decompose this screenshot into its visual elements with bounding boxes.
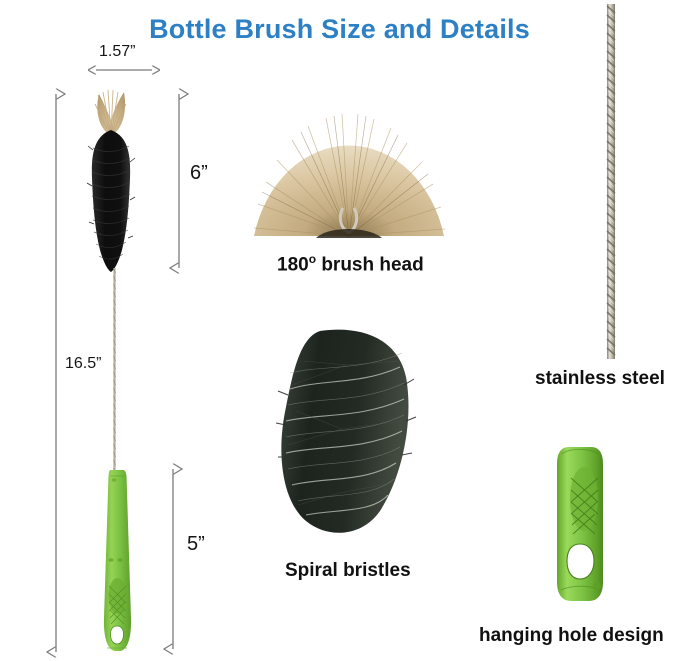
hanging-hole-caption: hanging hole design [479,625,664,647]
wire-shaft-illustration [112,268,117,475]
brush-head-illustration [86,88,136,273]
dimension-arrow-width [92,60,156,80]
brush-head-caption-prefix: 180 [277,254,309,275]
dimension-label-total-length: 16.5” [65,355,101,373]
stainless-steel-photo [603,4,619,359]
brush-head-photo [246,88,452,243]
dimension-label-width: 1.57” [99,43,135,61]
brush-head-caption-suffix: brush head [316,254,424,275]
dimension-arrow-total-length [47,88,65,658]
hanging-hole-photo [553,444,607,604]
dimension-label-handle-length: 5” [187,533,205,556]
handle-illustration [98,468,136,653]
dimension-label-head-length: 6” [190,162,208,185]
degree-symbol-icon: o [309,252,316,266]
dimension-arrow-handle-length [164,463,182,655]
page-title: Bottle Brush Size and Details [0,14,679,45]
spiral-bristles-photo [276,325,416,540]
product-infographic: Bottle Brush Size and Details 1.57” 6” 1… [0,0,679,661]
stainless-steel-caption: stainless steel [535,368,665,390]
spiral-bristles-caption: Spiral bristles [285,560,411,582]
brush-head-caption: 180o brush head [277,252,424,276]
dimension-arrow-head-length [170,88,188,274]
